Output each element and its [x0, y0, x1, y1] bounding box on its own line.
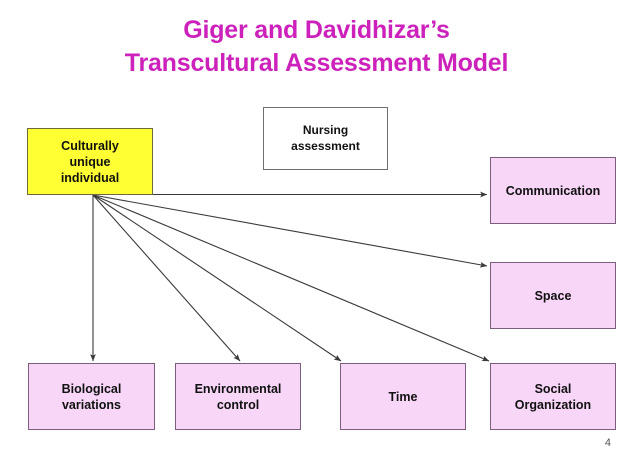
node-space[interactable]: Space	[490, 262, 616, 329]
page-number: 4	[605, 437, 611, 449]
node-nursing-assessment[interactable]: Nursing assessment	[263, 107, 388, 170]
connector-to-time	[93, 195, 341, 361]
node-label: Social Organization	[515, 381, 591, 413]
node-label: Environmental control	[195, 381, 282, 413]
node-label: Time	[389, 389, 418, 405]
node-label: Space	[535, 288, 572, 304]
connector-to-space	[93, 195, 487, 266]
node-social-organization[interactable]: Social Organization	[490, 363, 616, 430]
title-line-1: Giger and Davidhizar’s	[0, 14, 633, 47]
node-label: Biological variations	[62, 381, 122, 413]
slide-canvas: Giger and Davidhizar’s Transcultural Ass…	[0, 0, 633, 459]
connector-to-environmental-control	[93, 195, 240, 361]
node-label: Nursing assessment	[291, 123, 360, 154]
node-label: Communication	[506, 183, 600, 199]
title-line-2: Transcultural Assessment Model	[0, 47, 633, 80]
node-communication[interactable]: Communication	[490, 157, 616, 224]
connector-to-social-organization	[93, 195, 489, 361]
page-title: Giger and Davidhizar’s Transcultural Ass…	[0, 14, 633, 79]
node-time[interactable]: Time	[340, 363, 466, 430]
node-culturally-unique-individual[interactable]: Culturally unique individual	[27, 128, 153, 195]
node-environmental-control[interactable]: Environmental control	[175, 363, 301, 430]
node-label: Culturally unique individual	[61, 138, 119, 186]
node-biological-variations[interactable]: Biological variations	[28, 363, 155, 430]
